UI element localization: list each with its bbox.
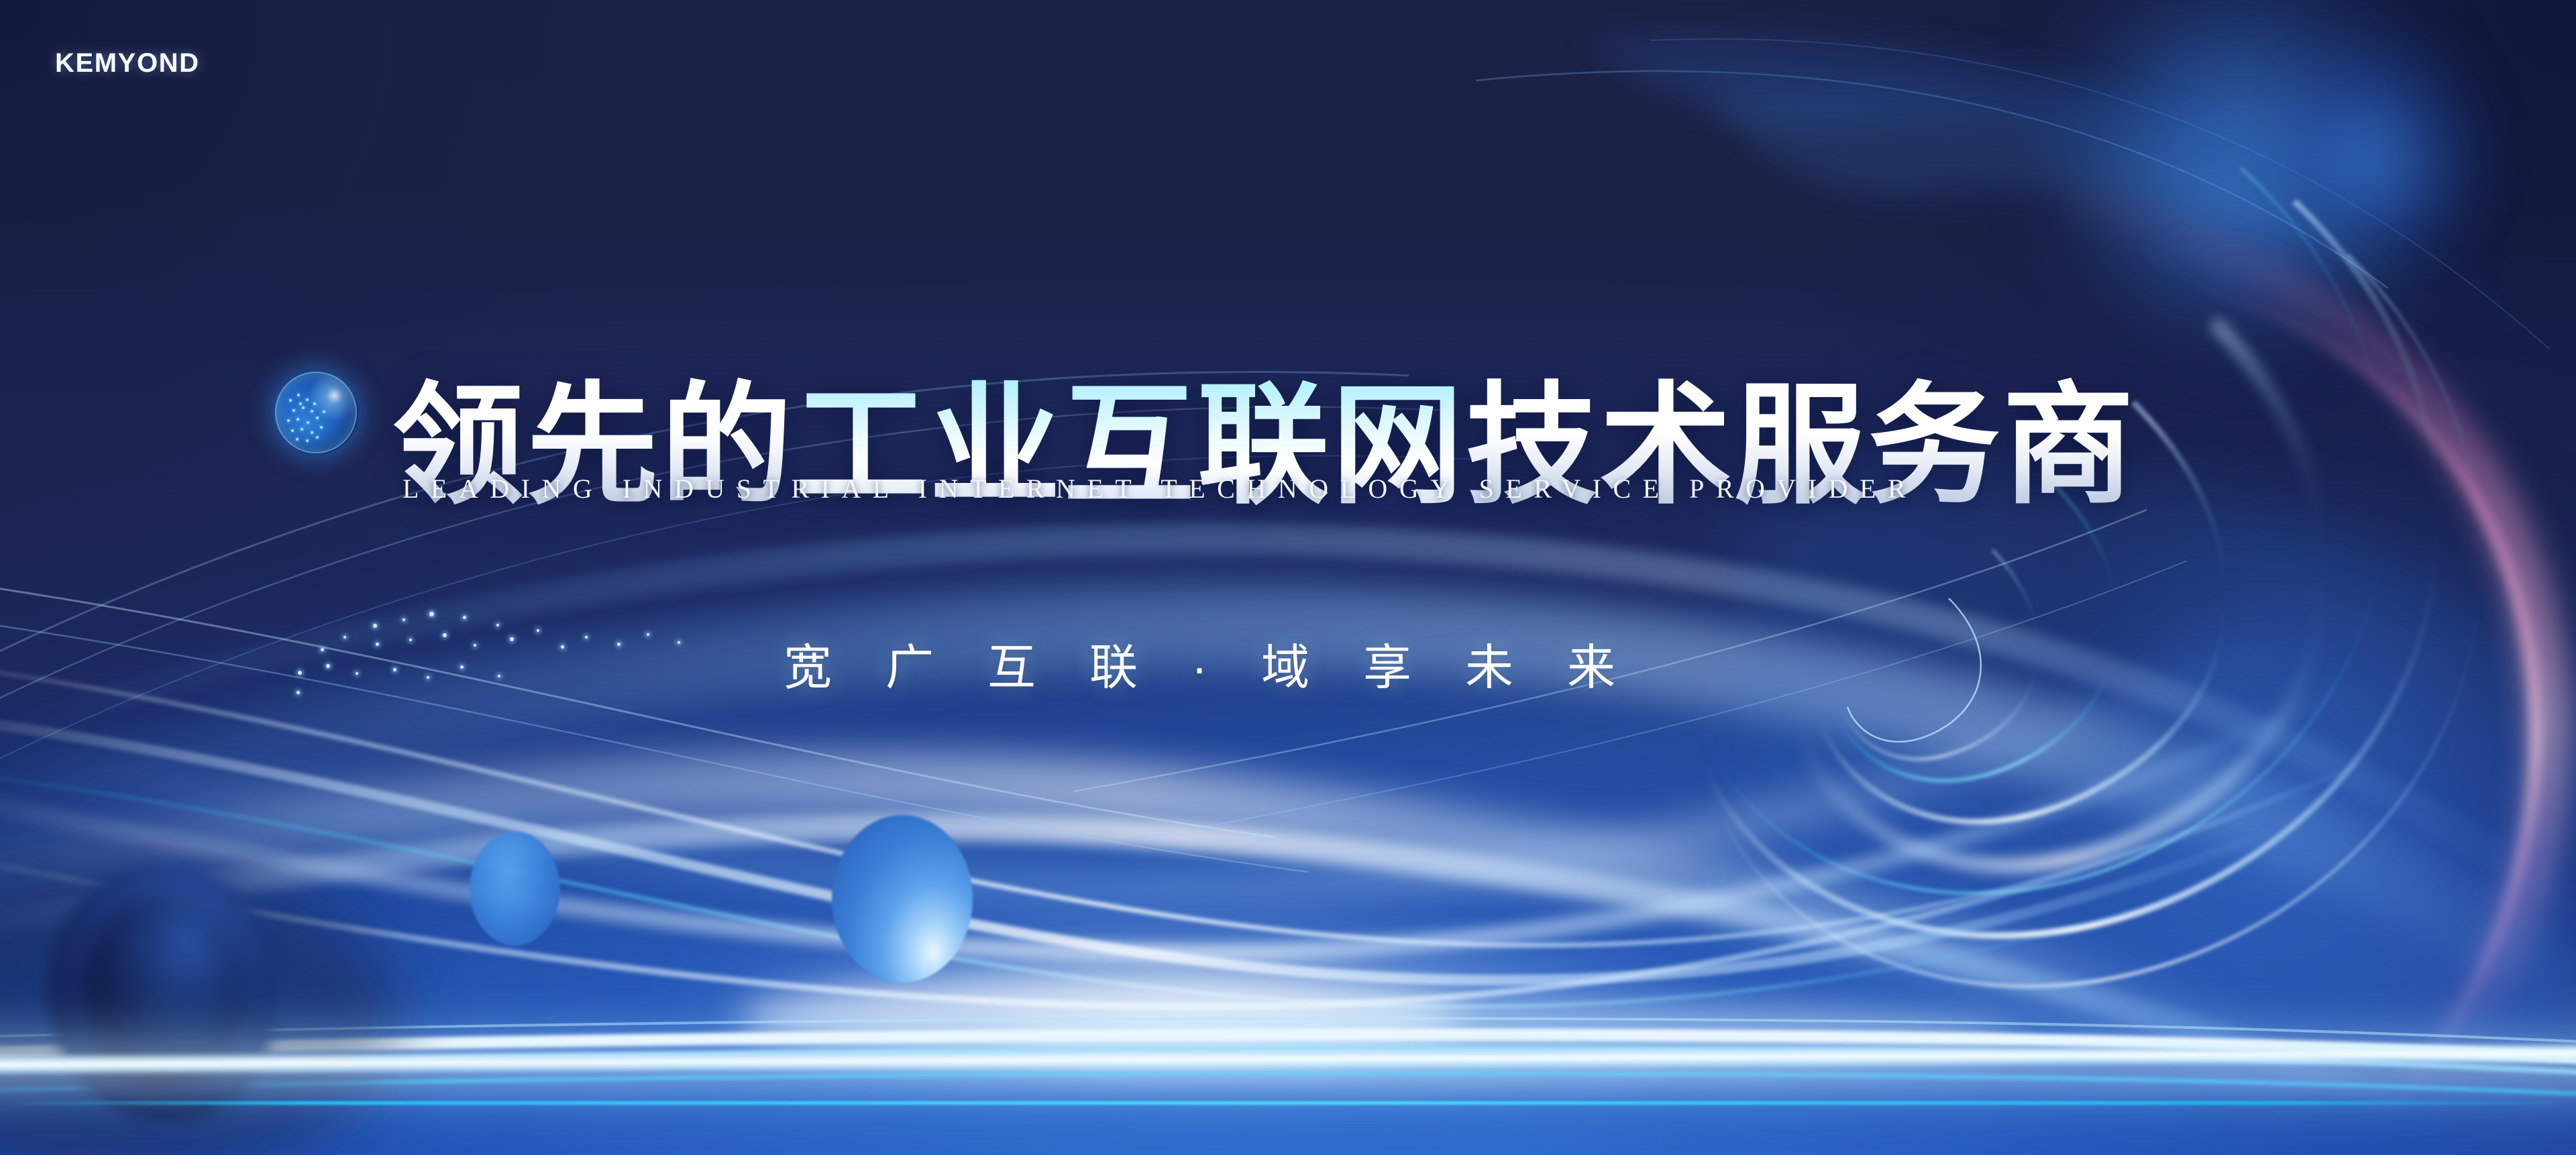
bottom-cyan-line: [0, 1101, 2576, 1105]
page-subtitle: LEADING INDUSTRIAL INTERNET TECHNOLOGY S…: [402, 473, 1917, 504]
light-ribbon-artwork: [0, 0, 2576, 1155]
banner-canvas: KEMYOND 领先的工业互联网技术服务商 LEADING INDUSTRIAL…: [0, 0, 2576, 1155]
orb-particle-dots: [274, 370, 358, 455]
page-tagline: 宽 广 互 联 · 域 享 未 来: [784, 628, 1635, 698]
brand-logo[interactable]: KEMYOND: [55, 48, 200, 78]
tech-orb-icon: [274, 370, 358, 455]
